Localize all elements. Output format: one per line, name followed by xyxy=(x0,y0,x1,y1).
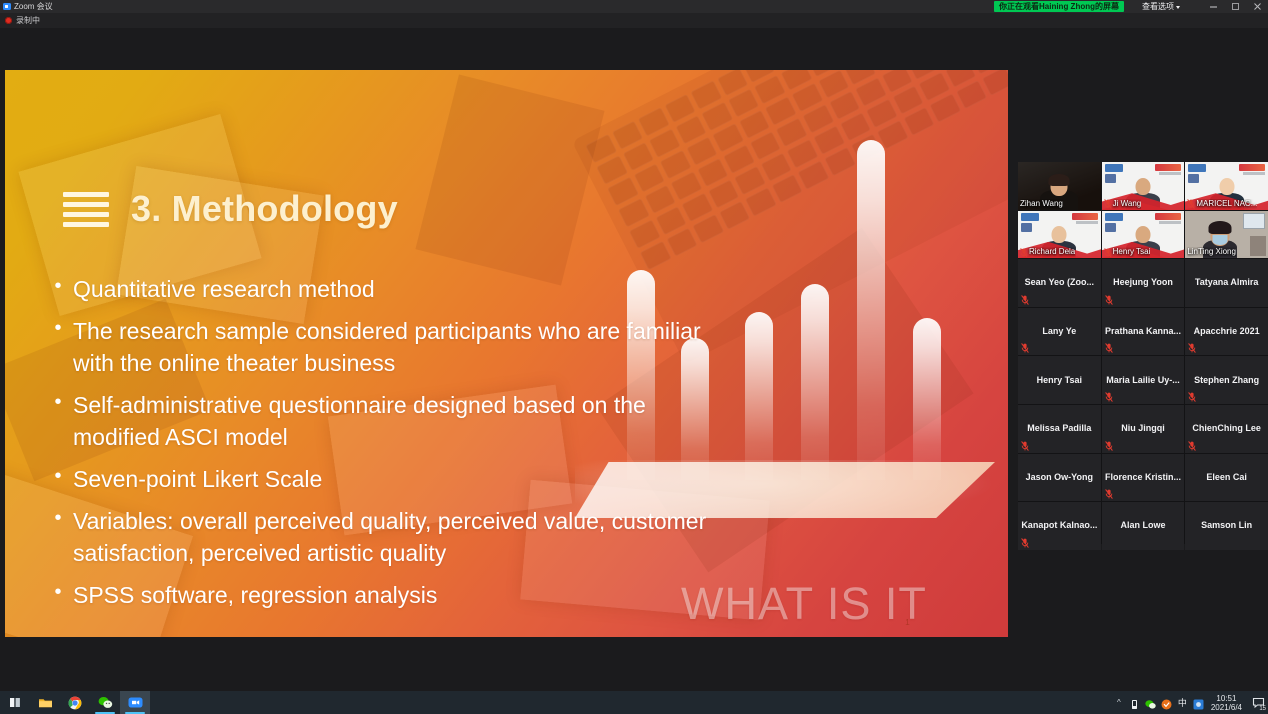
screen-share-viewing-badge: 你正在观看Haining Zhong的屏幕 xyxy=(994,1,1124,12)
slide-title-row: 3. Methodology xyxy=(63,188,398,230)
file-explorer-icon[interactable] xyxy=(30,691,60,714)
event-logo-right-secondary xyxy=(1159,221,1181,224)
participant-tile[interactable]: Apacchrie 2021 xyxy=(1185,308,1268,356)
microphone-muted-icon xyxy=(1021,538,1029,548)
list-item-text: Self-administrative questionnaire design… xyxy=(73,389,733,453)
participant-tile[interactable]: Alan Lowe xyxy=(1102,502,1185,550)
participant-tile[interactable]: Stephen Zhang xyxy=(1185,356,1268,404)
event-logo-left xyxy=(1021,213,1039,221)
participant-name: Alan Lowe xyxy=(1117,520,1168,531)
participant-name: Henry Tsai xyxy=(1034,375,1085,386)
video-tile[interactable]: Richard Dela xyxy=(1018,211,1101,259)
list-item: • Quantitative research method xyxy=(53,273,733,305)
participant-tile[interactable]: ChienChing Lee xyxy=(1185,405,1268,453)
microphone-muted-icon xyxy=(1187,199,1194,208)
list-item-text: Seven-point Likert Scale xyxy=(73,463,322,495)
participant-tile[interactable]: Samson Lin xyxy=(1185,502,1268,550)
microphone-muted-icon xyxy=(1188,343,1196,353)
windows-taskbar: ^ 中 10:51 2021/6/4 15 xyxy=(0,691,1268,714)
participant-tile[interactable]: Eleen Cai xyxy=(1185,454,1268,502)
list-item-text: Variables: overall perceived quality, pe… xyxy=(73,505,733,569)
participant-name: Samson Lin xyxy=(1198,520,1255,531)
window-graphic xyxy=(1243,213,1265,229)
chevron-up-icon[interactable]: ^ xyxy=(1114,698,1124,707)
list-item: • The research sample considered partici… xyxy=(53,315,733,379)
participant-tile[interactable]: Henry Tsai xyxy=(1018,356,1101,404)
participant-tile[interactable]: Prathana Kanna... xyxy=(1102,308,1185,356)
participant-name: ChienChing Lee xyxy=(1189,423,1264,434)
maximize-icon[interactable] xyxy=(1224,0,1246,13)
bullet-marker: • xyxy=(53,273,63,300)
event-logo-left-secondary xyxy=(1105,174,1116,183)
wechat-tray-icon[interactable] xyxy=(1145,697,1156,708)
microphone-muted-icon xyxy=(1105,295,1113,305)
person-head xyxy=(1219,178,1234,195)
microphone-muted-icon xyxy=(1188,441,1196,451)
recording-status-bar: 录制中 xyxy=(0,13,1268,28)
bullet-marker: • xyxy=(53,579,63,606)
minimize-icon[interactable] xyxy=(1202,0,1224,13)
onedrive-icon[interactable] xyxy=(1129,697,1140,708)
event-logo-right xyxy=(1072,213,1098,220)
event-logo-right xyxy=(1155,164,1181,171)
microphone-muted-icon xyxy=(1021,441,1029,451)
participant-tile[interactable]: Sean Yeo (Zoo... xyxy=(1018,259,1101,307)
taskbar-buttons xyxy=(0,691,150,714)
list-item: • Self-administrative questionnaire desi… xyxy=(53,389,733,453)
clock-date: 2021/6/4 xyxy=(1211,703,1242,712)
list-item: • SPSS software, regression analysis xyxy=(53,579,733,611)
participant-name: Maria Lailie Uy-... xyxy=(1103,375,1183,386)
slide-bullet-list: • Quantitative research method • The res… xyxy=(53,273,733,621)
participant-name: Apacchrie 2021 xyxy=(1191,326,1263,337)
window-controls xyxy=(1202,0,1268,13)
close-icon[interactable] xyxy=(1246,0,1268,13)
chevron-down-icon xyxy=(1176,6,1180,9)
participant-name: Tatyana Almira xyxy=(1192,277,1262,288)
slide-watermark: WHAT IS IT xyxy=(681,578,927,630)
participant-tile[interactable]: Lany Ye xyxy=(1018,308,1101,356)
participant-name: Richard Dela xyxy=(1029,247,1075,257)
microphone-muted-icon xyxy=(1020,248,1027,257)
recording-label: 录制中 xyxy=(16,15,40,26)
video-tile[interactable]: Zihan Wang xyxy=(1018,162,1101,210)
list-item: • Variables: overall perceived quality, … xyxy=(53,505,733,569)
event-logo-left xyxy=(1105,164,1123,172)
bullet-marker: • xyxy=(53,505,63,532)
participant-name: Stephen Zhang xyxy=(1191,375,1262,386)
microphone-muted-icon xyxy=(1104,199,1111,208)
event-logo-right-secondary xyxy=(1159,172,1181,175)
zoom-icon xyxy=(3,3,11,10)
microphone-muted-icon xyxy=(1104,248,1111,257)
bullet-marker: • xyxy=(53,389,63,416)
person-head xyxy=(1135,226,1150,243)
bullet-marker: • xyxy=(53,463,63,490)
shared-screen-slide[interactable]: 1781011121415161718192021222324252627282… xyxy=(5,70,1008,637)
participant-name: MARICEL NAC... xyxy=(1196,199,1257,209)
person-head xyxy=(1052,226,1067,243)
desktop-root: Zoom 会议 你正在观看Haining Zhong的屏幕 查看选项 录制中 xyxy=(0,0,1268,714)
participant-tile[interactable]: Maria Lailie Uy-... xyxy=(1102,356,1185,404)
slide-content: 3. Methodology • Quantitative research m… xyxy=(5,70,1008,637)
blue-app-icon[interactable] xyxy=(1193,697,1204,708)
video-tile-name: Henry Tsai xyxy=(1104,247,1151,257)
clock[interactable]: 10:51 2021/6/4 xyxy=(1211,694,1242,712)
window-title: Zoom 会议 xyxy=(14,1,53,12)
video-tile-name: Zihan Wang xyxy=(1020,199,1063,209)
recording-dot-icon xyxy=(5,17,12,24)
microphone-muted-icon xyxy=(1105,343,1113,353)
video-tile-name: LinTing Xiong xyxy=(1187,247,1236,257)
participant-name: Lany Ye xyxy=(1039,326,1079,337)
person-hair xyxy=(1049,174,1070,186)
participant-name: Sean Yeo (Zoo... xyxy=(1022,277,1097,288)
video-tile[interactable]: Henry Tsai xyxy=(1102,211,1185,259)
person-hair xyxy=(1209,221,1232,234)
ime-icon[interactable]: 中 xyxy=(1177,696,1188,709)
video-tile[interactable]: MARICEL NAC... xyxy=(1185,162,1268,210)
view-options-button[interactable]: 查看选项 xyxy=(1142,1,1180,12)
video-tile-name: MARICEL NAC... xyxy=(1187,199,1257,209)
page-title: 3. Methodology xyxy=(131,188,398,230)
event-logo-right-secondary xyxy=(1243,172,1265,175)
participant-tile[interactable]: Melissa Padilla xyxy=(1018,405,1101,453)
event-logo-right xyxy=(1239,164,1265,171)
microphone-muted-icon xyxy=(1105,489,1113,499)
system-tray: ^ 中 10:51 2021/6/4 15 xyxy=(1114,691,1268,714)
chrome-icon[interactable] xyxy=(60,691,90,714)
person-head xyxy=(1135,178,1150,195)
event-logo-left-secondary xyxy=(1188,174,1199,183)
participant-name: Niu Jingqi xyxy=(1118,423,1168,434)
participant-tile[interactable]: Heejung Yoon xyxy=(1102,259,1185,307)
event-logo-right-secondary xyxy=(1076,221,1098,224)
zoom-taskbar-icon[interactable] xyxy=(120,691,150,714)
list-item-text: Quantitative research method xyxy=(73,273,375,305)
participant-tile[interactable]: Tatyana Almira xyxy=(1185,259,1268,307)
zoom-title-bar: Zoom 会议 你正在观看Haining Zhong的屏幕 查看选项 xyxy=(0,0,1268,13)
door-graphic xyxy=(1250,236,1266,256)
event-logo-left-secondary xyxy=(1021,223,1032,232)
participant-name: Jason Ow-Yong xyxy=(1023,472,1096,483)
microphone-muted-icon xyxy=(1021,343,1029,353)
participant-name: Kanapot Kalnao... xyxy=(1018,520,1100,531)
event-logo-left-secondary xyxy=(1105,223,1116,232)
clock-time: 10:51 xyxy=(1211,694,1242,703)
list-item-text: The research sample considered participa… xyxy=(73,315,733,379)
microphone-muted-icon xyxy=(1105,441,1113,451)
safety-tray-icon[interactable] xyxy=(1161,697,1172,708)
event-logo-right xyxy=(1155,213,1181,220)
video-tile[interactable]: LinTing Xiong xyxy=(1185,211,1268,259)
participant-name: Eleen Cai xyxy=(1203,472,1250,483)
event-logo-left xyxy=(1105,213,1123,221)
bullet-marker: • xyxy=(53,315,63,342)
participant-name: Heejung Yoon xyxy=(1110,277,1176,288)
list-item: • Seven-point Likert Scale xyxy=(53,463,733,495)
participant-filmstrip[interactable]: Zihan WangJi WangMARICEL NAC...Richard D… xyxy=(1018,162,1268,544)
microphone-muted-icon xyxy=(1105,392,1113,402)
participant-tile[interactable]: Jason Ow-Yong xyxy=(1018,454,1101,502)
face-mask xyxy=(1213,235,1228,245)
participant-tile[interactable]: Kanapot Kalnao... xyxy=(1018,502,1101,550)
microphone-muted-icon xyxy=(1188,392,1196,402)
video-tile-name: Richard Dela xyxy=(1020,247,1075,257)
action-center-icon[interactable]: 15 xyxy=(1250,695,1266,711)
list-item-text: SPSS software, regression analysis xyxy=(73,579,437,611)
participant-name: Florence Kristin... xyxy=(1102,472,1184,483)
video-tile-name: Ji Wang xyxy=(1104,199,1142,209)
view-options-label: 查看选项 xyxy=(1142,1,1174,12)
participant-name: Zihan Wang xyxy=(1020,199,1063,209)
participant-tile[interactable]: Niu Jingqi xyxy=(1102,405,1185,453)
wechat-icon[interactable] xyxy=(90,691,120,714)
participant-name: Prathana Kanna... xyxy=(1102,326,1184,337)
event-logo-left xyxy=(1188,164,1206,172)
windows-start-icon[interactable] xyxy=(0,691,30,714)
microphone-muted-icon xyxy=(1021,295,1029,305)
participant-name: Melissa Padilla xyxy=(1024,423,1094,434)
hamburger-icon xyxy=(63,192,109,227)
participant-tile[interactable]: Florence Kristin... xyxy=(1102,454,1185,502)
participant-name: Ji Wang xyxy=(1113,199,1142,209)
notification-count: 15 xyxy=(1258,706,1267,712)
participant-name: Henry Tsai xyxy=(1113,247,1151,257)
participant-name: LinTing Xiong xyxy=(1187,247,1236,257)
video-tile[interactable]: Ji Wang xyxy=(1102,162,1185,210)
